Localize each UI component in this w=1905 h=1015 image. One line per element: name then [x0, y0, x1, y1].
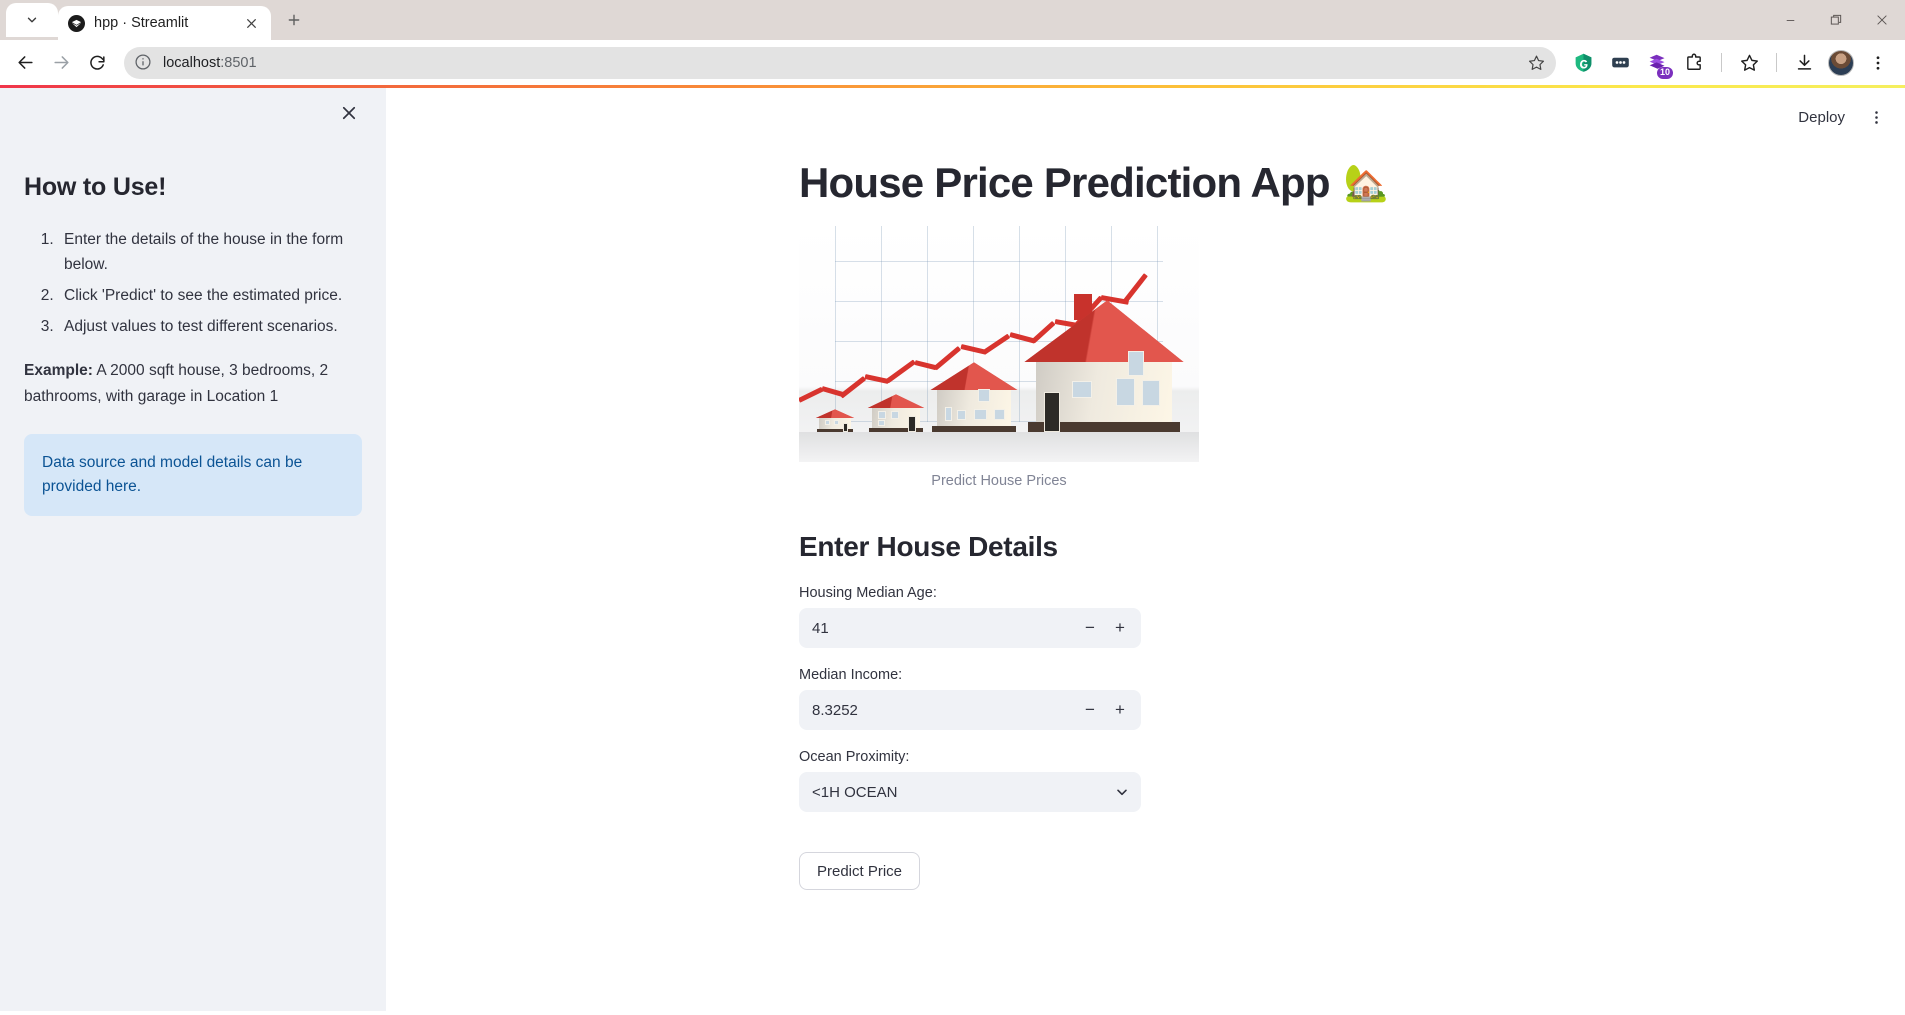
- profile-button[interactable]: [1824, 46, 1858, 80]
- select-value: <1H OCEAN: [812, 784, 1114, 801]
- page-title-text: House Price Prediction App: [799, 158, 1330, 208]
- browser-window: hpp · Streamlit: [0, 0, 1905, 1015]
- toolbar-divider-2: [1776, 53, 1777, 72]
- avatar: [1828, 50, 1854, 76]
- maximize-button[interactable]: [1813, 0, 1859, 40]
- reload-icon: [88, 53, 107, 72]
- minimize-button[interactable]: [1767, 0, 1813, 40]
- list-item: Click 'Predict' to see the estimated pri…: [58, 283, 362, 308]
- forward-arrow-icon: [52, 53, 71, 72]
- extension-badge-count: 10: [1657, 67, 1673, 79]
- house-illustration-1: [815, 410, 855, 432]
- field-label: Median Income:: [799, 667, 1503, 683]
- field-median-income: Median Income: 8.3252 − +: [799, 667, 1503, 730]
- hero-caption: Predict House Prices: [799, 473, 1199, 489]
- new-tab-button[interactable]: [277, 3, 311, 37]
- close-icon: [245, 17, 258, 30]
- toolbar-divider: [1721, 53, 1722, 72]
- sidebar-info-box: Data source and model details can be pro…: [24, 434, 362, 516]
- list-item: Enter the details of the house in the fo…: [58, 227, 362, 277]
- tab-search-button[interactable]: [6, 3, 58, 37]
- chart-floor: [799, 432, 1199, 462]
- reload-button[interactable]: [80, 46, 114, 80]
- hero-figure: Predict House Prices: [799, 226, 1199, 489]
- section-title: Enter House Details: [799, 531, 1503, 563]
- window-close-icon: [1875, 13, 1889, 27]
- downloads-button[interactable]: [1787, 46, 1821, 80]
- puzzle-extensions-icon[interactable]: [1677, 46, 1711, 80]
- tab-title: hpp · Streamlit: [94, 15, 232, 31]
- bookmark-button[interactable]: [1522, 49, 1550, 77]
- median-income-input[interactable]: 8.3252 − +: [799, 690, 1141, 730]
- back-button[interactable]: [8, 46, 42, 80]
- address-bar-text: localhost:8501: [163, 55, 1512, 71]
- close-icon: [340, 104, 358, 122]
- increment-button[interactable]: +: [1105, 695, 1135, 725]
- app-sidebar: How to Use! Enter the details of the hou…: [0, 88, 386, 1011]
- field-housing-median-age: Housing Median Age: 41 − +: [799, 585, 1503, 648]
- decrement-button[interactable]: −: [1075, 613, 1105, 643]
- browser-toolbar: localhost:8501 10: [0, 40, 1905, 85]
- url-port: :8501: [220, 55, 256, 71]
- house-price-growth-chart-image: [799, 226, 1199, 462]
- tab-close-button[interactable]: [241, 13, 261, 33]
- page-title: House Price Prediction App 🏡: [799, 158, 1503, 218]
- tab-strip: hpp · Streamlit: [0, 0, 1905, 40]
- window-close-button[interactable]: [1859, 0, 1905, 40]
- predict-price-button[interactable]: Predict Price: [799, 852, 920, 890]
- star-icon: [1528, 54, 1545, 71]
- sidebar-info-text: Data source and model details can be pro…: [42, 454, 302, 495]
- sidebar-example: Example: A 2000 sqft house, 3 bedrooms, …: [24, 358, 362, 408]
- back-arrow-icon: [16, 53, 35, 72]
- field-ocean-proximity: Ocean Proximity: <1H OCEAN: [799, 749, 1503, 812]
- sidebar-example-label: Example:: [24, 362, 93, 379]
- page-viewport: How to Use! Enter the details of the hou…: [0, 85, 1905, 1015]
- sidebar-heading: How to Use!: [24, 173, 362, 202]
- restore-icon: [1829, 13, 1843, 27]
- notes-extension-icon[interactable]: 10: [1640, 46, 1674, 80]
- plus-icon: [286, 12, 302, 28]
- streamlit-favicon: [68, 15, 85, 32]
- chevron-down-icon: [1114, 784, 1130, 800]
- house-illustration-4: [1024, 292, 1184, 432]
- site-info-icon[interactable]: [134, 53, 153, 72]
- field-label: Ocean Proximity:: [799, 749, 1503, 765]
- streamlit-gradient-bar: [0, 85, 1905, 88]
- ocean-proximity-select[interactable]: <1H OCEAN: [799, 772, 1141, 812]
- kebab-menu-icon: [1869, 54, 1887, 72]
- bookmark-star-icon[interactable]: [1732, 46, 1766, 80]
- list-item: Adjust values to test different scenario…: [58, 314, 362, 339]
- sidebar-content: How to Use! Enter the details of the hou…: [0, 88, 386, 516]
- input-value: 41: [812, 620, 1075, 637]
- url-host: localhost: [163, 55, 220, 71]
- increment-button[interactable]: +: [1105, 613, 1135, 643]
- toolbar-extensions: 10: [1566, 46, 1897, 80]
- app-content: House Price Prediction App 🏡: [386, 88, 1905, 890]
- decrement-button[interactable]: −: [1075, 695, 1105, 725]
- app-block: House Price Prediction App 🏡: [799, 158, 1503, 890]
- dots-extension-icon[interactable]: [1603, 46, 1637, 80]
- download-icon: [1795, 53, 1814, 72]
- grammar-extension-icon[interactable]: [1566, 46, 1600, 80]
- input-value: 8.3252: [812, 702, 1075, 719]
- house-illustration-3: [930, 362, 1018, 432]
- sidebar-close-button[interactable]: [334, 98, 364, 128]
- browser-tab[interactable]: hpp · Streamlit: [58, 6, 271, 40]
- chevron-down-icon: [25, 13, 39, 27]
- app-main: Deploy House Price Prediction App 🏡: [386, 88, 1905, 1011]
- house-illustration-2: [867, 394, 925, 432]
- address-bar[interactable]: localhost:8501: [124, 47, 1556, 79]
- window-controls: [1767, 0, 1905, 40]
- sidebar-steps-list: Enter the details of the house in the fo…: [24, 227, 362, 339]
- house-emoji-icon: 🏡: [1344, 165, 1388, 201]
- minimize-icon: [1784, 14, 1797, 27]
- housing-median-age-input[interactable]: 41 − +: [799, 608, 1141, 648]
- browser-menu-button[interactable]: [1861, 46, 1895, 80]
- forward-button[interactable]: [44, 46, 78, 80]
- trend-line-segment: [799, 387, 823, 403]
- field-label: Housing Median Age:: [799, 585, 1503, 601]
